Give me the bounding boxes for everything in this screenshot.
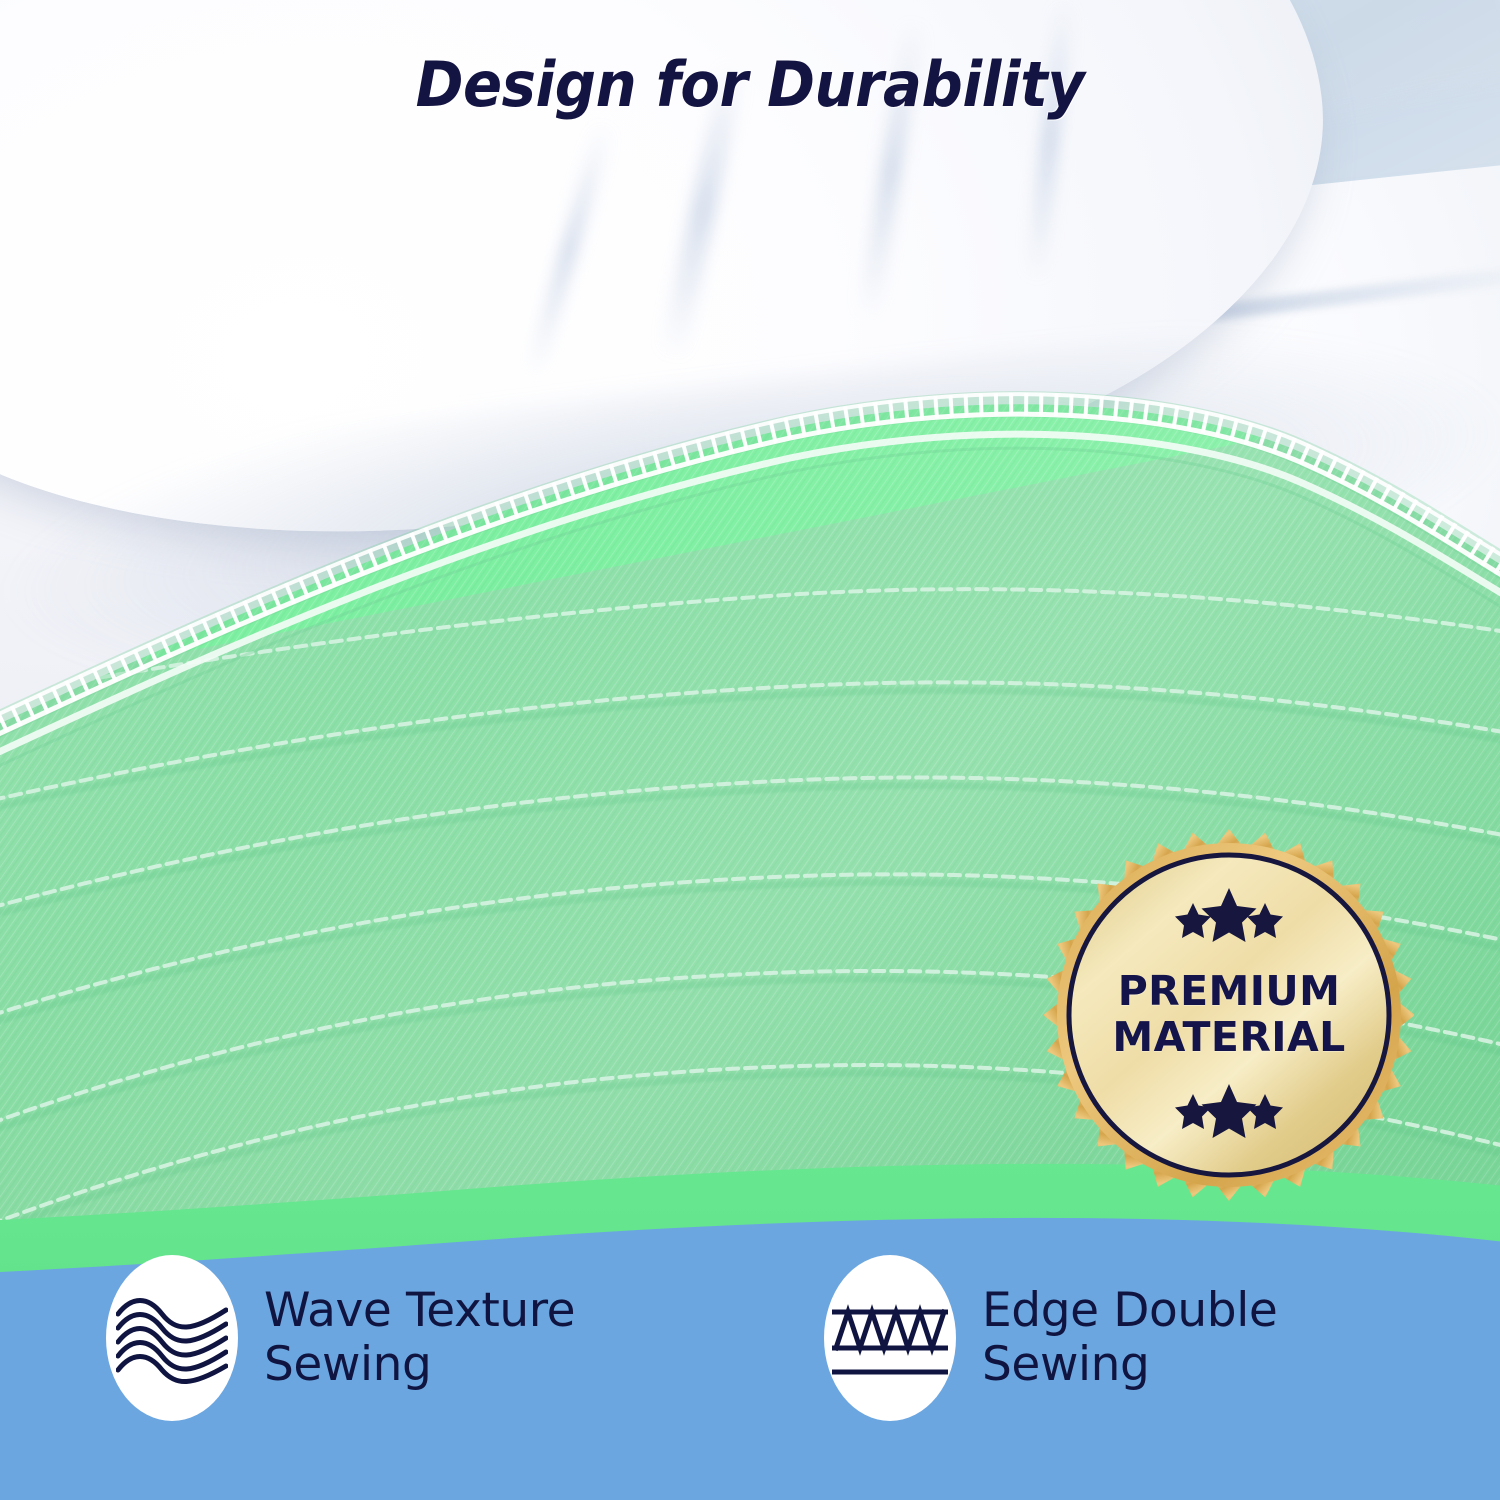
wave-lines-icon: [106, 1255, 238, 1421]
product-infographic: Design for Durability: [0, 0, 1500, 1500]
page-title: Design for Durability: [53, 48, 1448, 121]
feature-label-edge-double-sewing: Edge Double Sewing: [982, 1284, 1277, 1391]
feature-wave-texture-sewing: Wave Texture Sewing: [106, 1255, 575, 1421]
premium-material-badge: PREMIUM MATERIAL: [1044, 826, 1414, 1204]
feature-edge-double-sewing: Edge Double Sewing: [824, 1255, 1277, 1421]
zigzag-stitch-icon: [824, 1255, 956, 1421]
feature-label-wave-texture-sewing: Wave Texture Sewing: [264, 1284, 575, 1391]
feature-strip: Wave Texture Sewing Edge Double Sewing: [0, 1200, 1500, 1500]
